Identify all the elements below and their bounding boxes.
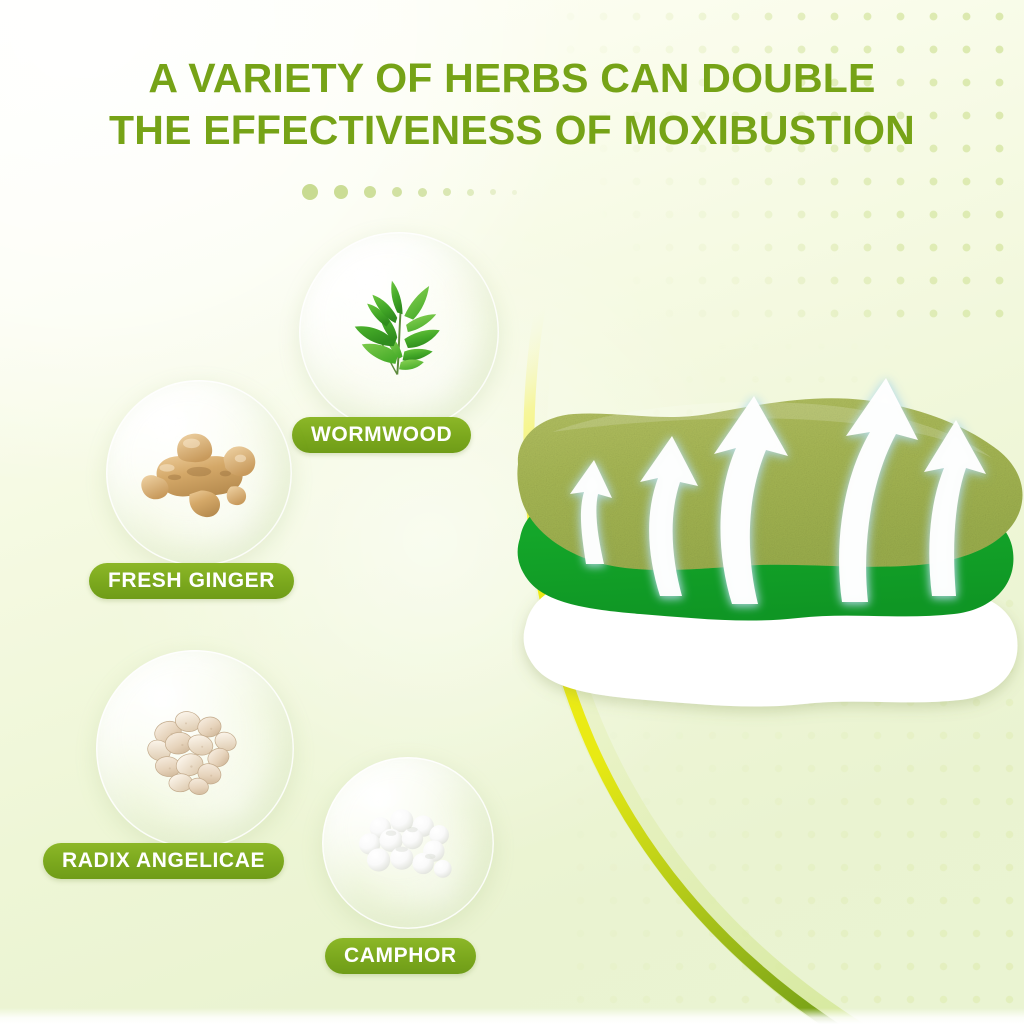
bottom-white-strip (0, 1008, 1024, 1024)
ingredient-label-camphor[interactable]: CAMPHOR (325, 938, 476, 974)
ingredient-label-fresh-ginger[interactable]: FRESH GINGER (89, 563, 294, 599)
ingredient-label-radix-angelicae[interactable]: RADIX ANGELICAE (43, 843, 284, 879)
camphor-balls-icon (322, 757, 494, 929)
angelica-root-slices-icon (96, 650, 294, 848)
ingredient-bubble-radix-angelicae[interactable] (96, 650, 294, 848)
page-title: A VARIETY OF HERBS CAN DOUBLE THE EFFECT… (0, 52, 1024, 156)
title-line-1: A VARIETY OF HERBS CAN DOUBLE (16, 52, 1008, 104)
halftone-dots-top-right (554, 0, 1024, 330)
ginger-root-icon (106, 380, 292, 566)
wormwood-leaf-icon (299, 232, 499, 432)
ingredient-label-wormwood[interactable]: WORMWOOD (292, 417, 471, 453)
title-line-2: THE EFFECTIVENESS OF MOXIBUSTION (16, 104, 1008, 156)
infographic-poster: A VARIETY OF HERBS CAN DOUBLE THE EFFECT… (0, 0, 1024, 1024)
ingredient-bubble-fresh-ginger[interactable] (106, 380, 292, 566)
ingredient-bubble-wormwood[interactable] (299, 232, 499, 432)
ingredient-bubble-camphor[interactable] (322, 757, 494, 929)
decorative-dot-row (302, 184, 517, 200)
moxibustion-patch-illustration (512, 352, 1024, 792)
